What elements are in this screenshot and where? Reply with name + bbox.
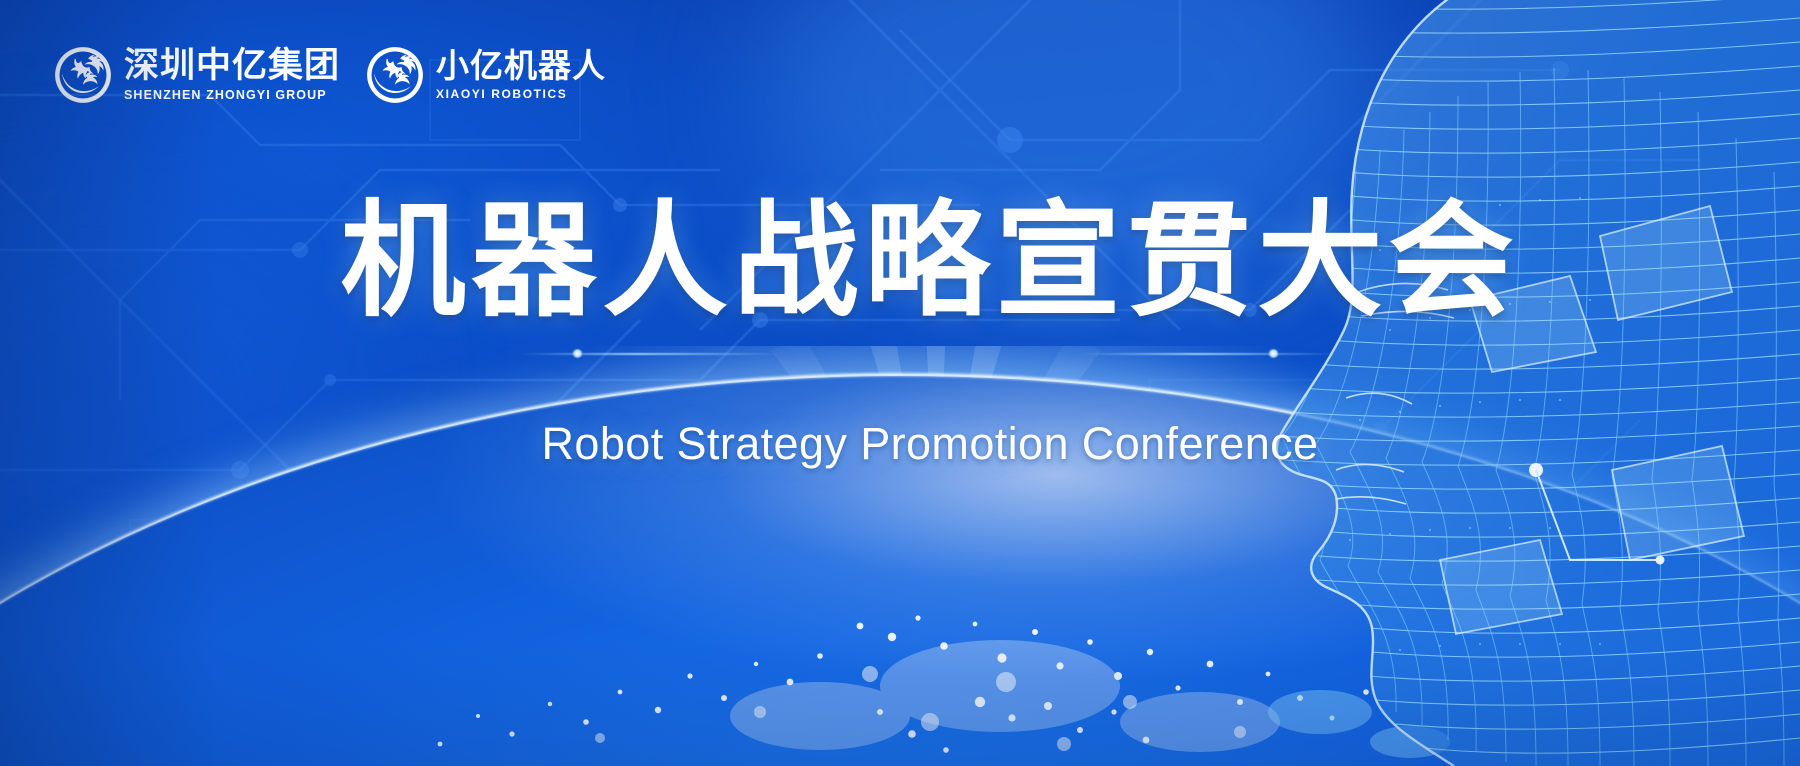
- page-subtitle: Robot Strategy Promotion Conference: [542, 418, 1319, 470]
- title-decoration-streaks: [0, 346, 1800, 362]
- zhongyi-circular-emblem-icon: [52, 44, 114, 106]
- logo-xiaoyi-robotics[interactable]: 小亿机器人 XIAOYI ROBOTICS: [364, 44, 606, 106]
- title-block: 机器人战略宣贯大会: [0, 196, 1800, 328]
- light-streak-right-icon: [1080, 352, 1340, 356]
- logo-shenzhen-zhongyi-group[interactable]: 深圳中亿集团 SHENZHEN ZHONGYI GROUP: [52, 44, 340, 106]
- logo-en-name: SHENZHEN ZHONGYI GROUP: [124, 88, 340, 103]
- logo-cn-name: 小亿机器人: [436, 48, 606, 84]
- subtitle-block: Robot Strategy Promotion Conference: [0, 418, 1800, 470]
- xiaoyi-circular-emblem-icon: [364, 44, 426, 106]
- page-title: 机器人战略宣贯大会: [341, 196, 1520, 328]
- logo-en-name: XIAOYI ROBOTICS: [436, 87, 606, 102]
- conference-banner: 深圳中亿集团 SHENZHEN ZHONGYI GROUP 小亿机器人 XIAO…: [0, 0, 1800, 766]
- light-streak-left-icon: [520, 352, 780, 356]
- logo-cn-name: 深圳中亿集团: [124, 47, 340, 85]
- circuit-network-icon: [0, 0, 1800, 766]
- logo-bar: 深圳中亿集团 SHENZHEN ZHONGYI GROUP 小亿机器人 XIAO…: [52, 44, 606, 106]
